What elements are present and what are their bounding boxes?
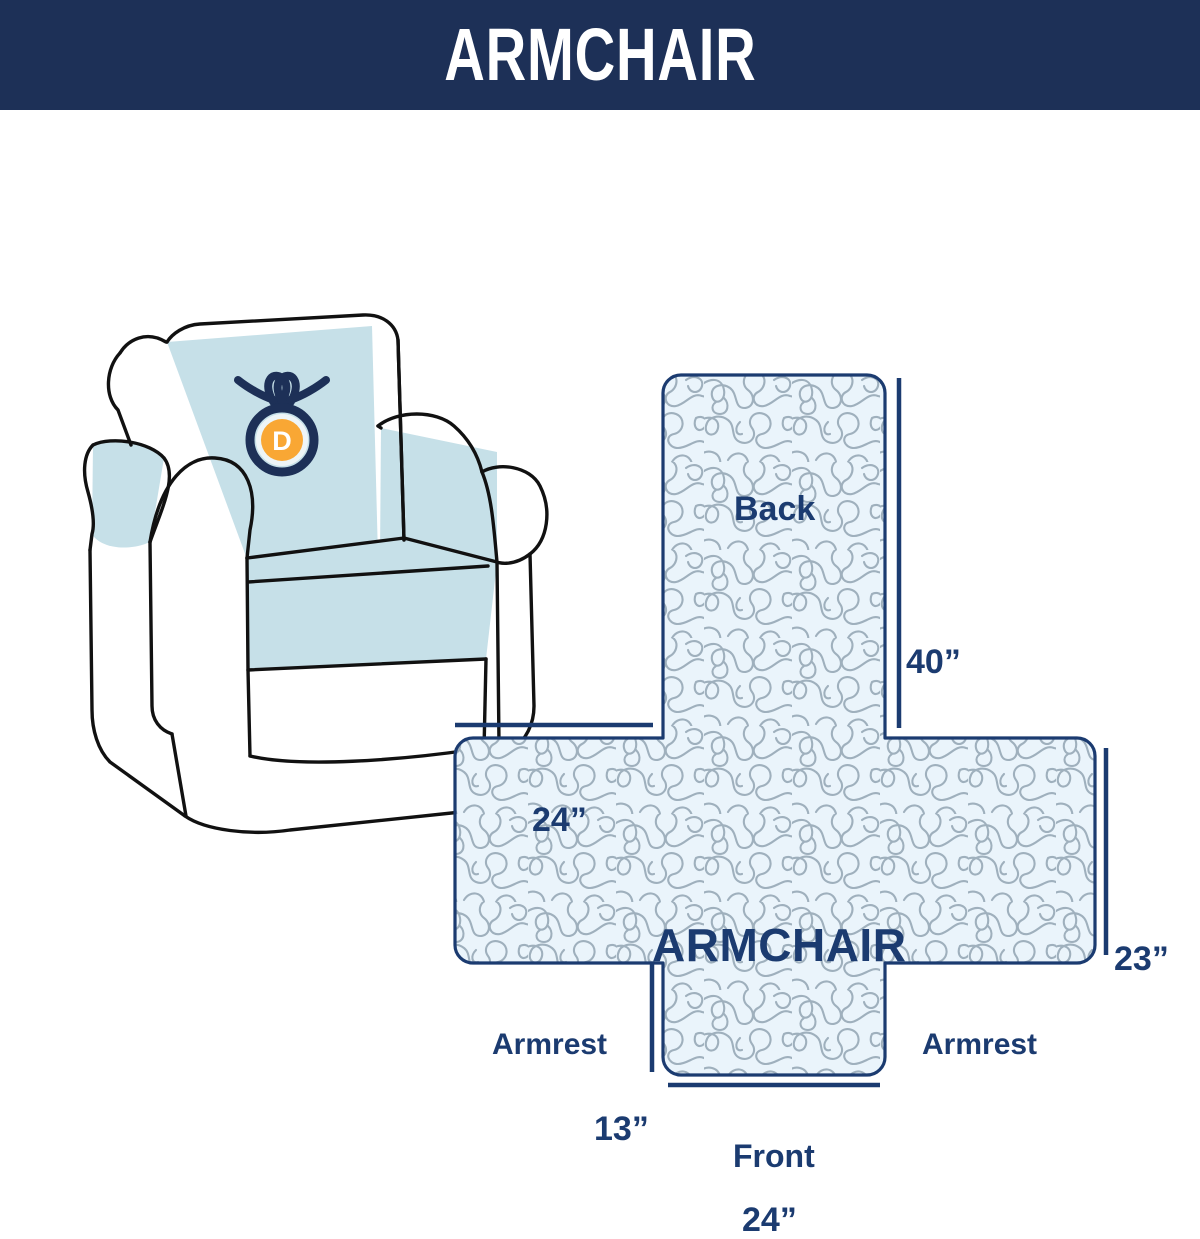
page-header: ARMCHAIR [0, 0, 1200, 110]
panel-label-front: Front [733, 1140, 815, 1172]
dimension-label-back-width: 24” [532, 803, 587, 837]
panel-label-back: Back [734, 492, 815, 526]
panel-label-armrest-right: Armrest [922, 1030, 1037, 1060]
panel-label-armrest-left: Armrest [492, 1030, 607, 1060]
page-title: ARMCHAIR [444, 18, 756, 92]
poster-root: ARMCHAIR [0, 0, 1200, 1200]
chair-left-arm [85, 445, 94, 550]
dimension-label-armrest-height: 23” [1114, 942, 1169, 976]
content-stage: D Back ARMCHAIR Armrest Armrest Front 40… [0, 110, 1200, 1200]
dimension-label-front-height: 13” [594, 1112, 649, 1146]
dimension-label-back-height: 40” [906, 645, 961, 679]
dimension-label-front-width: 24” [742, 1203, 797, 1237]
chair-skirt-fabric [248, 566, 488, 670]
logo-letter: D [272, 426, 292, 456]
diagram-center-label: ARMCHAIR [652, 922, 906, 968]
